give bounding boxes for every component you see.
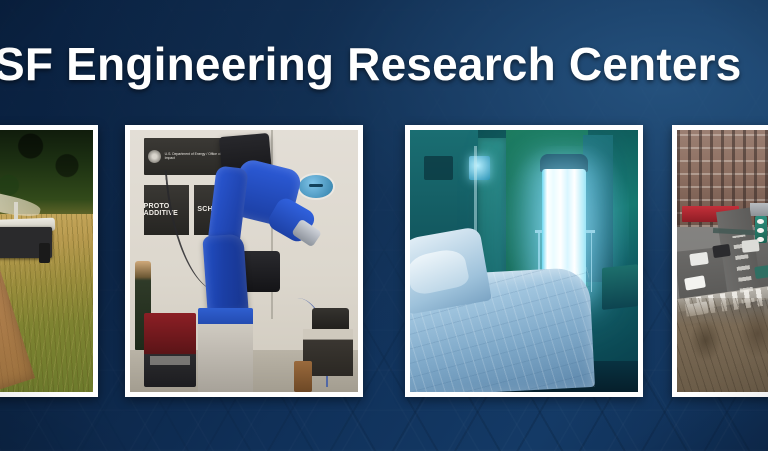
robot-base-column (198, 324, 253, 392)
photo-smart-city-image (677, 130, 768, 392)
corn-field-scene (0, 130, 93, 392)
rover-wheel-right (39, 243, 50, 263)
grey-storefront-awning (750, 203, 768, 216)
welding-power-supply (144, 313, 196, 386)
photo-agriculture-image (0, 130, 93, 392)
wall-panel (424, 156, 454, 180)
robot-lab-scene: U.S. Department of Energy / Office of Ec… (130, 130, 358, 392)
photo-uv-hospital-image (410, 130, 638, 392)
wall-medical-device (469, 156, 490, 180)
page-title: SF Engineering Research Centers (0, 33, 754, 95)
agency-seal-icon (148, 150, 161, 163)
photo-smart-city (672, 125, 768, 397)
hospital-bed (410, 230, 592, 392)
wooden-stool (294, 361, 312, 392)
nsf-erc-banner: SF Engineering Research Centers (0, 0, 768, 451)
side-cart (602, 264, 638, 310)
photo-robot-lab: U.S. Department of Energy / Office of Ec… (125, 125, 363, 397)
robot-lower-link (203, 233, 249, 314)
vehicle (754, 265, 768, 279)
hospital-room-scene (410, 130, 638, 392)
bare-trees-foreground (677, 298, 768, 392)
photo-uv-hospital (405, 125, 643, 397)
photo-robot-lab-image: U.S. Department of Energy / Office of Ec… (130, 130, 358, 392)
photo-agriculture (0, 125, 98, 397)
photo-gallery: U.S. Department of Energy / Office of Ec… (0, 125, 768, 400)
agricultural-rover (0, 219, 57, 261)
urban-intersection-scene (677, 130, 768, 392)
wall-mounted-gauge (299, 175, 333, 199)
vehicle (741, 239, 759, 252)
